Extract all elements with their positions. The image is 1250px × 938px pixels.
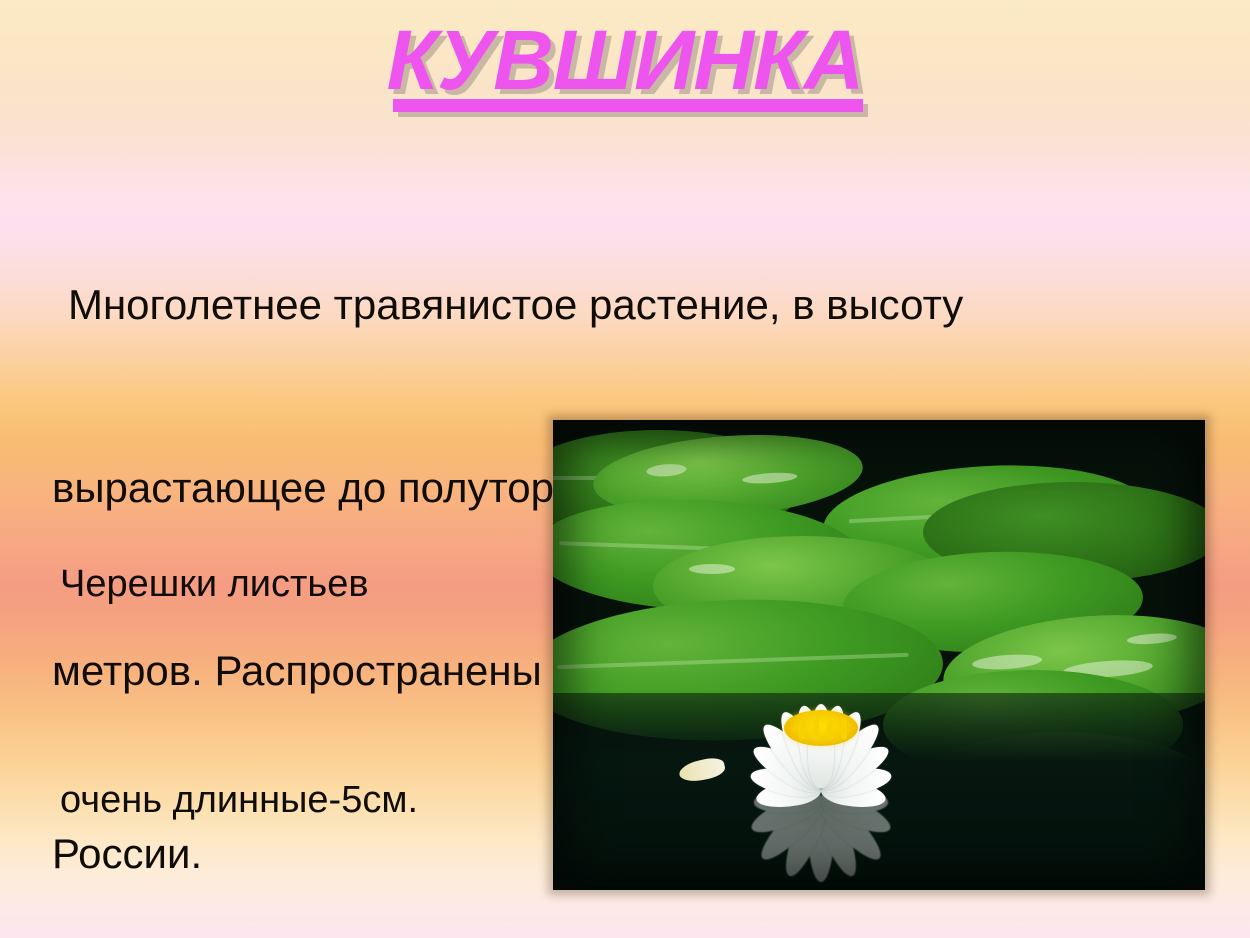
page-title: КУВШИНКА	[381, 18, 870, 108]
title-underline	[393, 99, 864, 112]
stamen	[841, 718, 847, 740]
paragraph-line: Черешки листьев	[60, 548, 550, 620]
photo-content	[553, 420, 1205, 890]
flower-bud	[677, 755, 726, 784]
paragraph-leaf-details: Черешки листьев очень длинные-5см. Цветк…	[60, 404, 550, 938]
stamen	[813, 716, 819, 740]
water-lily-photo	[553, 420, 1205, 890]
paragraph-line: очень длинные-5см.	[60, 764, 550, 836]
stamen	[799, 720, 805, 740]
water-lily-flower	[671, 638, 971, 798]
paragraph-line: Многолетнее травянистое растение, в высо…	[52, 274, 1202, 335]
stamen	[827, 720, 833, 740]
slide-title-container: КУВШИНКА	[0, 18, 1250, 108]
presentation-slide: КУВШИНКА Многолетнее травянистое растени…	[0, 0, 1250, 938]
flower-reflection	[671, 788, 971, 890]
slide-title-text: КУВШИНКА	[387, 13, 864, 107]
